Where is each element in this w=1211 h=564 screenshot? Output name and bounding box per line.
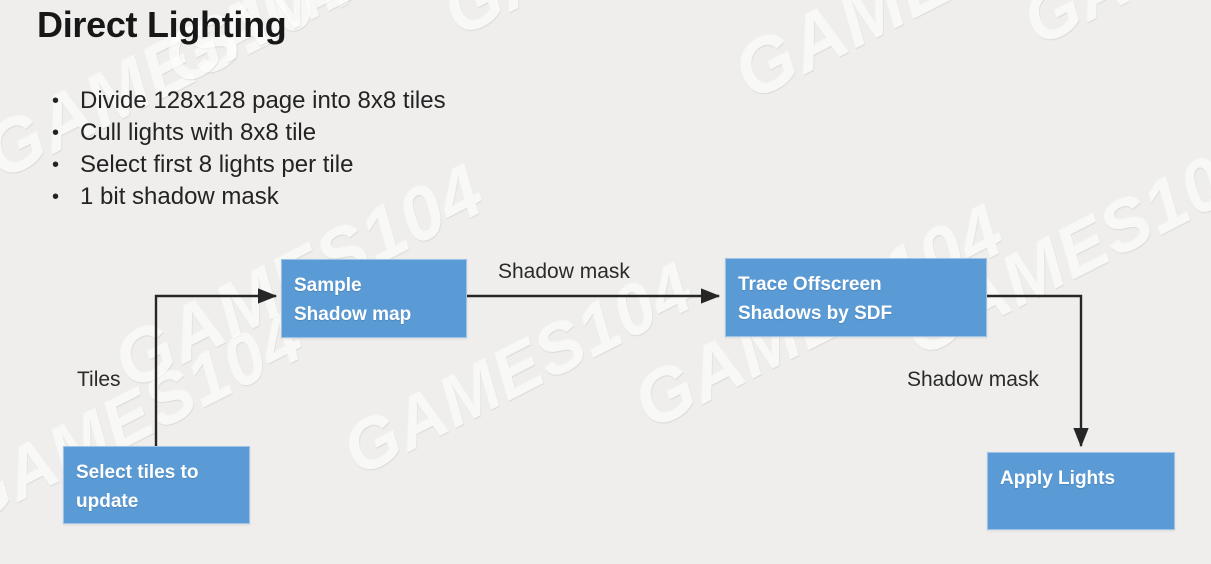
bullet-list: • Divide 128x128 page into 8x8 tiles • C… xyxy=(46,86,446,214)
bullet-text: Cull lights with 8x8 tile xyxy=(80,118,316,148)
node-select-tiles-to-update[interactable]: Select tiles to update xyxy=(63,446,250,524)
flow-diagram: Sample Shadow map Trace Offscreen Shadow… xyxy=(0,0,1211,564)
slide-title: Direct Lighting xyxy=(37,4,287,46)
bullet-item: • Cull lights with 8x8 tile xyxy=(46,118,446,150)
node-apply-lights[interactable]: Apply Lights xyxy=(987,452,1175,530)
node-line-1: Select tiles to xyxy=(76,458,249,487)
edge-label-shadow-mask-right: Shadow mask xyxy=(907,368,1039,392)
bullet-item: • Select first 8 lights per tile xyxy=(46,150,446,182)
edge-label-shadow-mask-top: Shadow mask xyxy=(498,260,630,284)
bullet-marker-icon: • xyxy=(46,86,80,116)
node-line-1: Apply Lights xyxy=(1000,464,1174,493)
node-sample-shadow-map[interactable]: Sample Shadow map xyxy=(281,259,467,338)
bullet-text: Select first 8 lights per tile xyxy=(80,150,353,180)
bullet-marker-icon: • xyxy=(46,150,80,180)
bullet-item: • Divide 128x128 page into 8x8 tiles xyxy=(46,86,446,118)
bullet-text: 1 bit shadow mask xyxy=(80,182,279,212)
node-line-2: Shadows by SDF xyxy=(738,299,986,328)
slide-canvas: GAMES104 GAMES104 GAMES104 GAMES104 GAME… xyxy=(0,0,1211,564)
node-trace-offscreen-shadows[interactable]: Trace Offscreen Shadows by SDF xyxy=(725,258,987,337)
bullet-text: Divide 128x128 page into 8x8 tiles xyxy=(80,86,446,116)
bullet-marker-icon: • xyxy=(46,118,80,148)
node-line-2: Shadow map xyxy=(294,300,466,329)
node-line-2: update xyxy=(76,487,249,516)
node-line-1: Sample xyxy=(294,271,466,300)
node-line-1: Trace Offscreen xyxy=(738,270,986,299)
connector-select-tiles-to-sample xyxy=(156,296,276,446)
bullet-item: • 1 bit shadow mask xyxy=(46,182,446,214)
edge-label-tiles: Tiles xyxy=(77,368,121,392)
bullet-marker-icon: • xyxy=(46,182,80,212)
